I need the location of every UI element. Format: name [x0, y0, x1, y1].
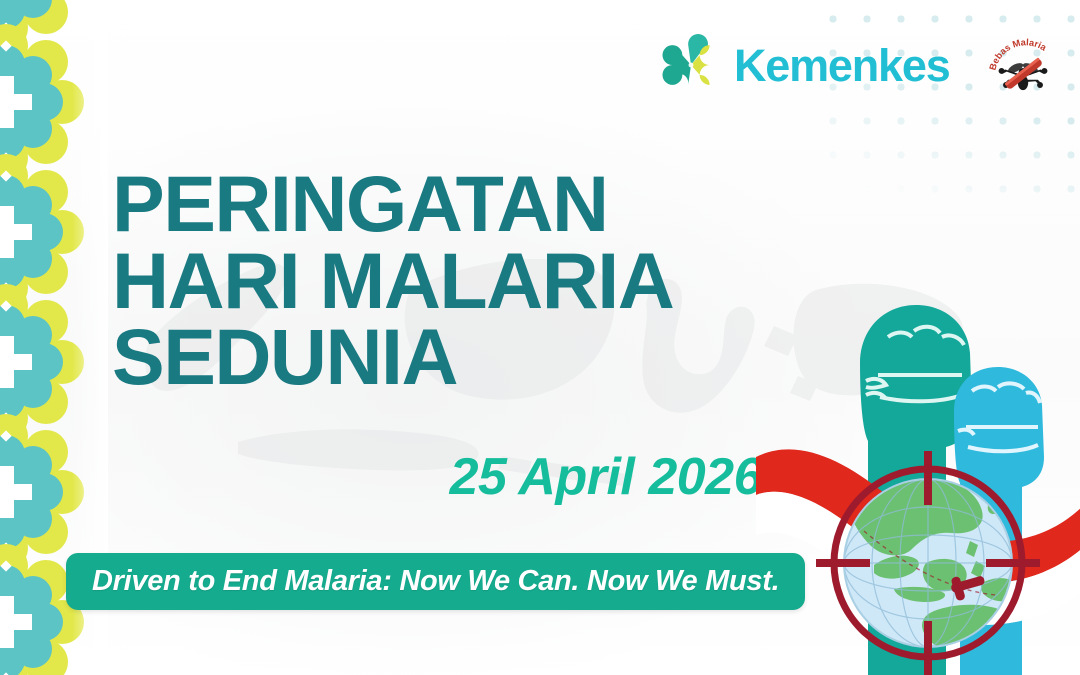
bebas-malaria-logo-icon: Bebas Malaria	[986, 28, 1060, 102]
tagline-banner: Driven to End Malaria: Now We Can. Now W…	[66, 553, 805, 610]
tagline-text: Driven to End Malaria: Now We Can. Now W…	[92, 566, 779, 596]
kemenkes-wordmark: Kemenkes	[734, 43, 950, 88]
poster-canvas: Kemenkes Bebas Malaria	[0, 0, 1080, 675]
page-title: PERINGATAN HARI MALARIA SEDUNIA	[112, 166, 832, 396]
kemenkes-lockup: Kemenkes	[660, 34, 950, 96]
title-line-1: PERINGATAN	[112, 166, 832, 243]
title-line-2: HARI MALARIA	[112, 243, 832, 320]
raised-fists-globe-illustration	[756, 245, 1080, 675]
kemenkes-logo-icon	[660, 34, 722, 96]
header-logo-row: Kemenkes Bebas Malaria	[660, 28, 1060, 102]
event-date: 25 April 2026	[112, 447, 762, 507]
title-line-3: SEDUNIA	[112, 319, 832, 396]
